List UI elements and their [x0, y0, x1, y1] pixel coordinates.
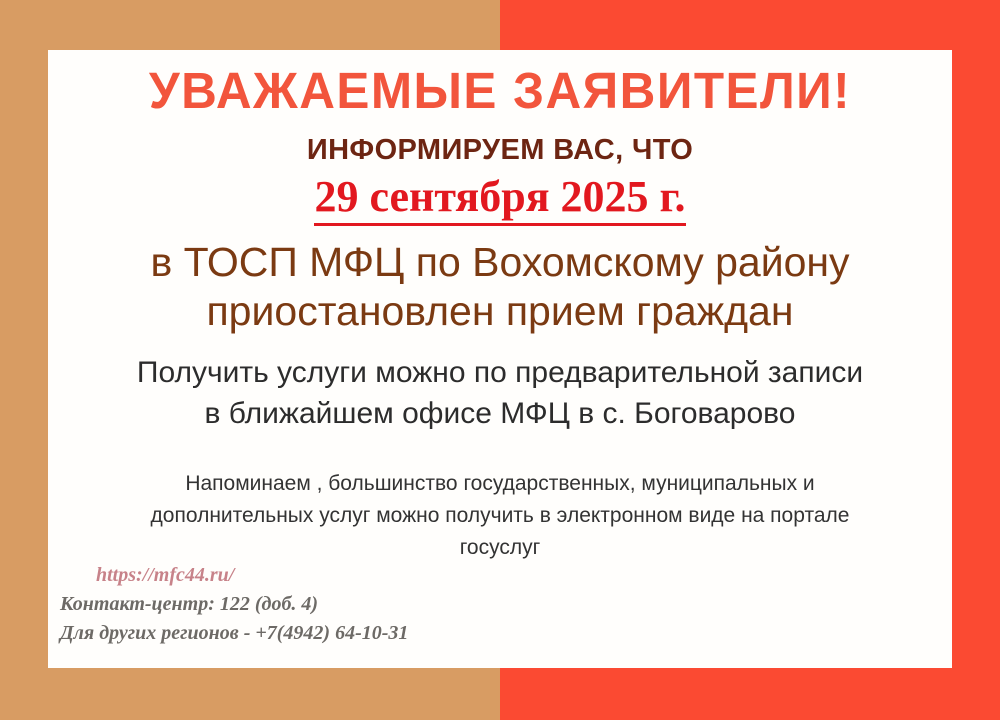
announcement-card-content: УВАЖАЕМЫЕ ЗАЯВИТЕЛИ! ИНФОРМИРУЕМ ВАС, ЧТ…: [48, 50, 952, 668]
page-title: УВАЖАЕМЫЕ ЗАЯВИТЕЛИ!: [62, 63, 939, 119]
poster-announcement: УВАЖАЕМЫЕ ЗАЯВИТЕЛИ! ИНФОРМИРУЕМ ВАС, ЧТ…: [0, 0, 1000, 720]
main-statement: в ТОСП МФЦ по Вохомскому району приостан…: [48, 238, 952, 336]
other-regions-phone-line: Для других регионов - +7(4942) 64-10-31: [60, 619, 560, 648]
reminder-paragraph: Напоминаем , большинство государственных…: [70, 468, 930, 564]
subheading-informing: ИНФОРМИРУЕМ ВАС, ЧТО: [48, 134, 952, 167]
announcement-card: УВАЖАЕМЫЕ ЗАЯВИТЕЛИ! ИНФОРМИРУЕМ ВАС, ЧТ…: [48, 50, 952, 668]
main-statement-line-1: в ТОСП МФЦ по Вохомскому району: [48, 238, 952, 287]
contact-center-line: Контакт-центр: 122 (доб. 4): [60, 590, 560, 619]
suspension-date: 29 сентября 2025 г.: [314, 172, 685, 226]
reminder-line-2: дополнительных услуг можно получить в эл…: [70, 500, 930, 532]
website-url-link[interactable]: https://mfc44.ru/: [96, 560, 560, 590]
date-line: 29 сентября 2025 г.: [48, 172, 952, 226]
secondary-statement-line-1: Получить услуги можно по предварительной…: [48, 352, 952, 393]
secondary-statement: Получить услуги можно по предварительной…: [48, 352, 952, 434]
contacts-block: https://mfc44.ru/ Контакт-центр: 122 (до…: [60, 560, 560, 648]
secondary-statement-line-2: в ближайшем офисе МФЦ в с. Боговарово: [48, 393, 952, 434]
reminder-line-1: Напоминаем , большинство государственных…: [70, 468, 930, 500]
main-statement-line-2: приостановлен прием граждан: [48, 287, 952, 336]
